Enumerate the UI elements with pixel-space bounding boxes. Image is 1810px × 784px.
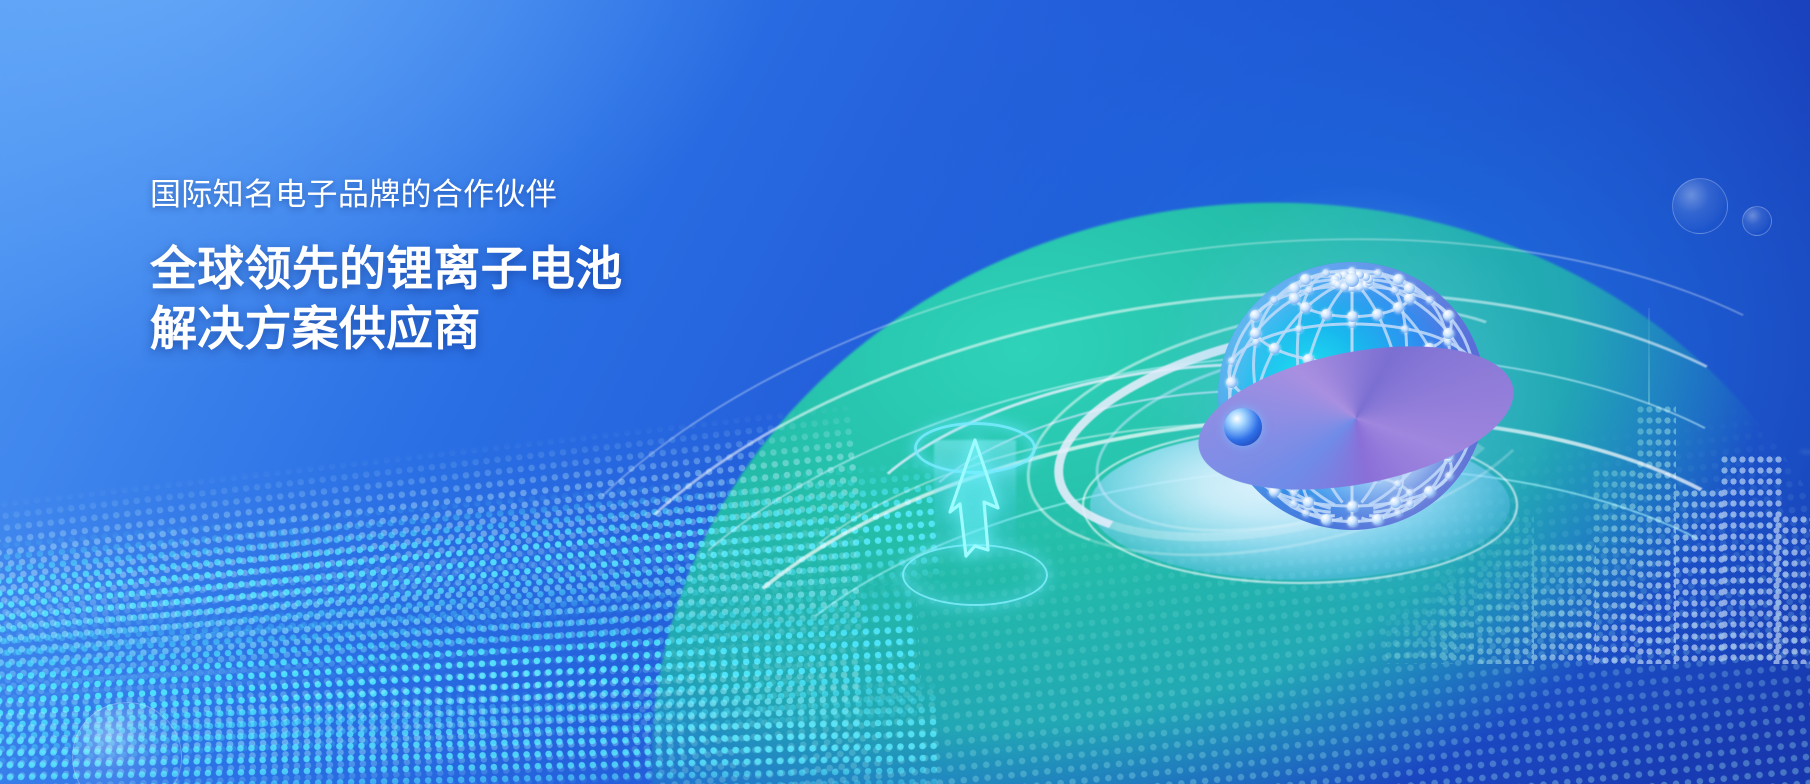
- light-portal-icon: [900, 440, 1050, 600]
- cursor-arrow-icon: [944, 434, 1006, 566]
- equator-node-icon: [1224, 408, 1262, 446]
- bubble-icon: [1742, 206, 1772, 236]
- hero-headline-line-2: 解决方案供应商: [150, 299, 910, 359]
- bubble-icon: [72, 702, 182, 784]
- hero-copy: 国际知名电子品牌的合作伙伴 全球领先的锂离子电池 解决方案供应商: [150, 176, 910, 359]
- hero-eyebrow: 国际知名电子品牌的合作伙伴: [150, 176, 910, 213]
- bubble-icon: [1672, 178, 1728, 234]
- hero-banner: 国际知名电子品牌的合作伙伴 全球领先的锂离子电池 解决方案供应商: [0, 0, 1810, 784]
- hero-headline: 全球领先的锂离子电池 解决方案供应商: [150, 239, 910, 358]
- hero-headline-line-1: 全球领先的锂离子电池: [150, 239, 910, 299]
